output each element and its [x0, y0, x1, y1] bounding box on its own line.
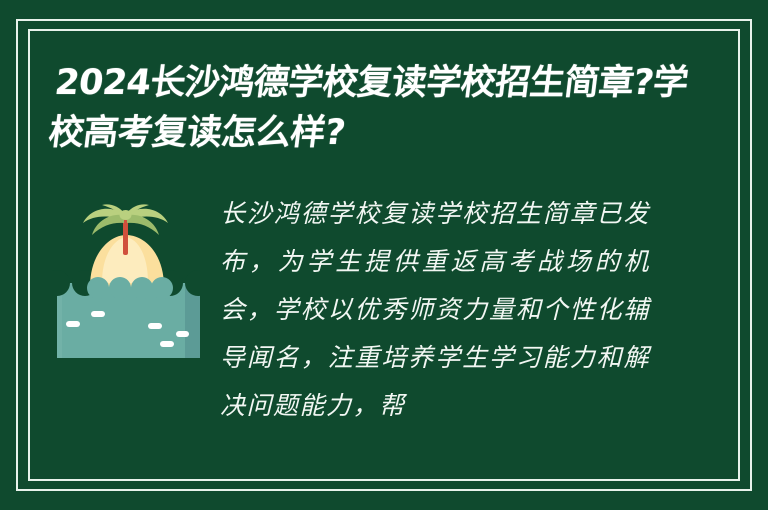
poster-canvas: 2024长沙鸿德学校复读学校招生简章?学校高考复读怎么样?	[0, 0, 768, 510]
page-title: 2024长沙鸿德学校复读学校招生简章?学校高考复读怎么样?	[46, 58, 698, 158]
island-illustration	[52, 195, 200, 363]
island-with-palm-tree-icon	[52, 195, 200, 363]
article-body-text: 长沙鸿德学校复读学校招生简章已发布，为学生提供重返高考战场的机会，学校以优秀师资…	[220, 190, 650, 430]
content-row: 长沙鸿德学校复读学校招生简章已发布，为学生提供重返高考战场的机会，学校以优秀师资…	[52, 190, 728, 430]
